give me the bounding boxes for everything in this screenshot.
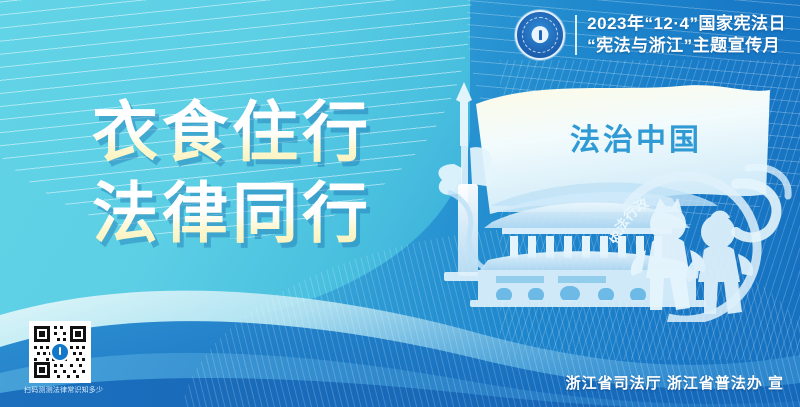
headline-line-2: 法律同行: [92, 173, 372, 254]
footer-organizations: 浙江省司法厅 浙江省普法办 宣: [566, 372, 784, 393]
emblem-scales-glyph: [532, 26, 549, 43]
central-illustration: 法治中国: [418, 72, 798, 322]
headline-block: 衣食住行 法律同行: [92, 92, 372, 253]
header-line-2: “宪法与浙江”主题宣传月: [587, 36, 786, 56]
headline-line-1: 衣食住行: [92, 92, 372, 173]
qr-block[interactable]: 扫码测测法律常识知多少: [24, 321, 96, 395]
badge-divider: [575, 15, 577, 55]
qr-center-logo: [50, 342, 70, 362]
justice-emblem-icon: [515, 10, 565, 60]
poster-canvas: 2023年“12·4”国家宪法日 “宪法与浙江”主题宣传月 衣食住行 法律同行: [0, 0, 800, 407]
flag-text: 法治中国: [570, 124, 702, 157]
qr-caption: 扫码测测法律常识知多少: [24, 387, 96, 395]
header-text-block: 2023年“12·4”国家宪法日 “宪法与浙江”主题宣传月: [587, 14, 786, 56]
header-badge: 2023年“12·4”国家宪法日 “宪法与浙江”主题宣传月: [515, 10, 786, 60]
qr-code-icon[interactable]: [29, 321, 91, 383]
header-line-1: 2023年“12·4”国家宪法日: [587, 14, 786, 34]
